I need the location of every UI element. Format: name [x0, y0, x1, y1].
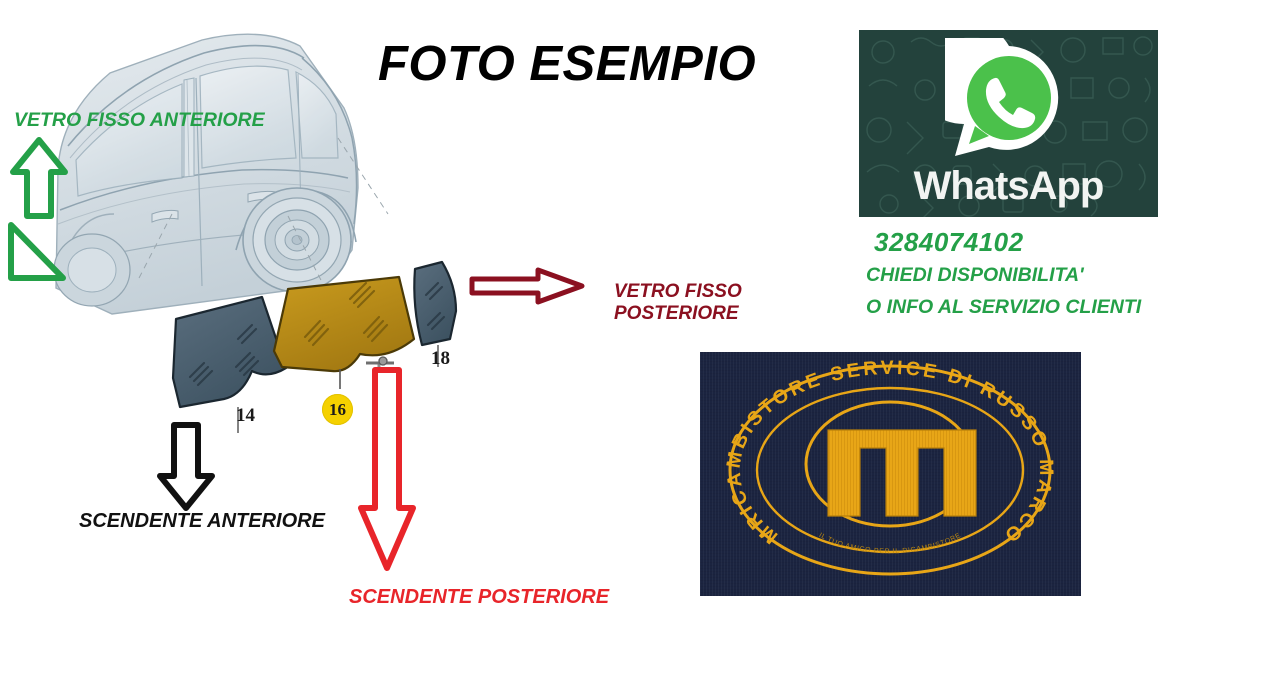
down-arrow-black-icon — [155, 420, 217, 512]
up-arrow-green-icon — [8, 136, 70, 220]
part-number-18: 18 — [431, 348, 450, 370]
callout-label-scendente-anteriore: SCENDENTE ANTERIORE — [79, 510, 325, 534]
svg-text:IL TUO AMICO PER IL RICAMBISTO: IL TUO AMICO PER IL RICAMBISTORE — [818, 532, 963, 555]
whatsapp-logo-icon — [945, 38, 1073, 171]
contact-line-1: CHIEDI DISPONIBILITA' — [866, 264, 1084, 287]
whatsapp-banner: WhatsApp — [859, 30, 1158, 217]
page-title: FOTO ESEMPIO — [378, 36, 756, 92]
part-number-16-label: 16 — [329, 400, 346, 420]
part-number-14: 14 — [236, 405, 255, 427]
callout-label-scendente-posteriore: SCENDENTE POSTERIORE — [349, 586, 609, 610]
shop-logo-monogram — [828, 430, 976, 516]
callout-label-line-2: POSTERIORE — [614, 303, 742, 325]
down-arrow-red-icon — [356, 366, 418, 574]
shop-logo-emblem: MRICAMBISTORE SERVICE DI RUSSO MARCO IL … — [700, 352, 1081, 596]
phone-number: 3284074102 — [874, 227, 1024, 258]
callout-label-vetro-fisso-posteriore: VETRO FISSO POSTERIORE — [614, 281, 742, 326]
triangle-green-icon — [6, 220, 68, 284]
part-number-16-badge: 16 — [322, 394, 353, 425]
whatsapp-wordmark: WhatsApp — [859, 164, 1158, 209]
callout-label-vetro-fisso-anteriore: VETRO FISSO ANTERIORE — [14, 109, 265, 132]
contact-line-2: O INFO AL SERVIZIO CLIENTI — [866, 296, 1141, 319]
right-arrow-darkred-icon — [468, 266, 586, 306]
callout-label-line-1: VETRO FISSO — [614, 281, 742, 303]
screenshot-canvas: 14 16 17 18 FOTO ESEMPIO VETRO FISSO ANT… — [0, 0, 1264, 678]
shop-logo-photo: MRICAMBISTORE SERVICE DI RUSSO MARCO IL … — [700, 352, 1081, 596]
